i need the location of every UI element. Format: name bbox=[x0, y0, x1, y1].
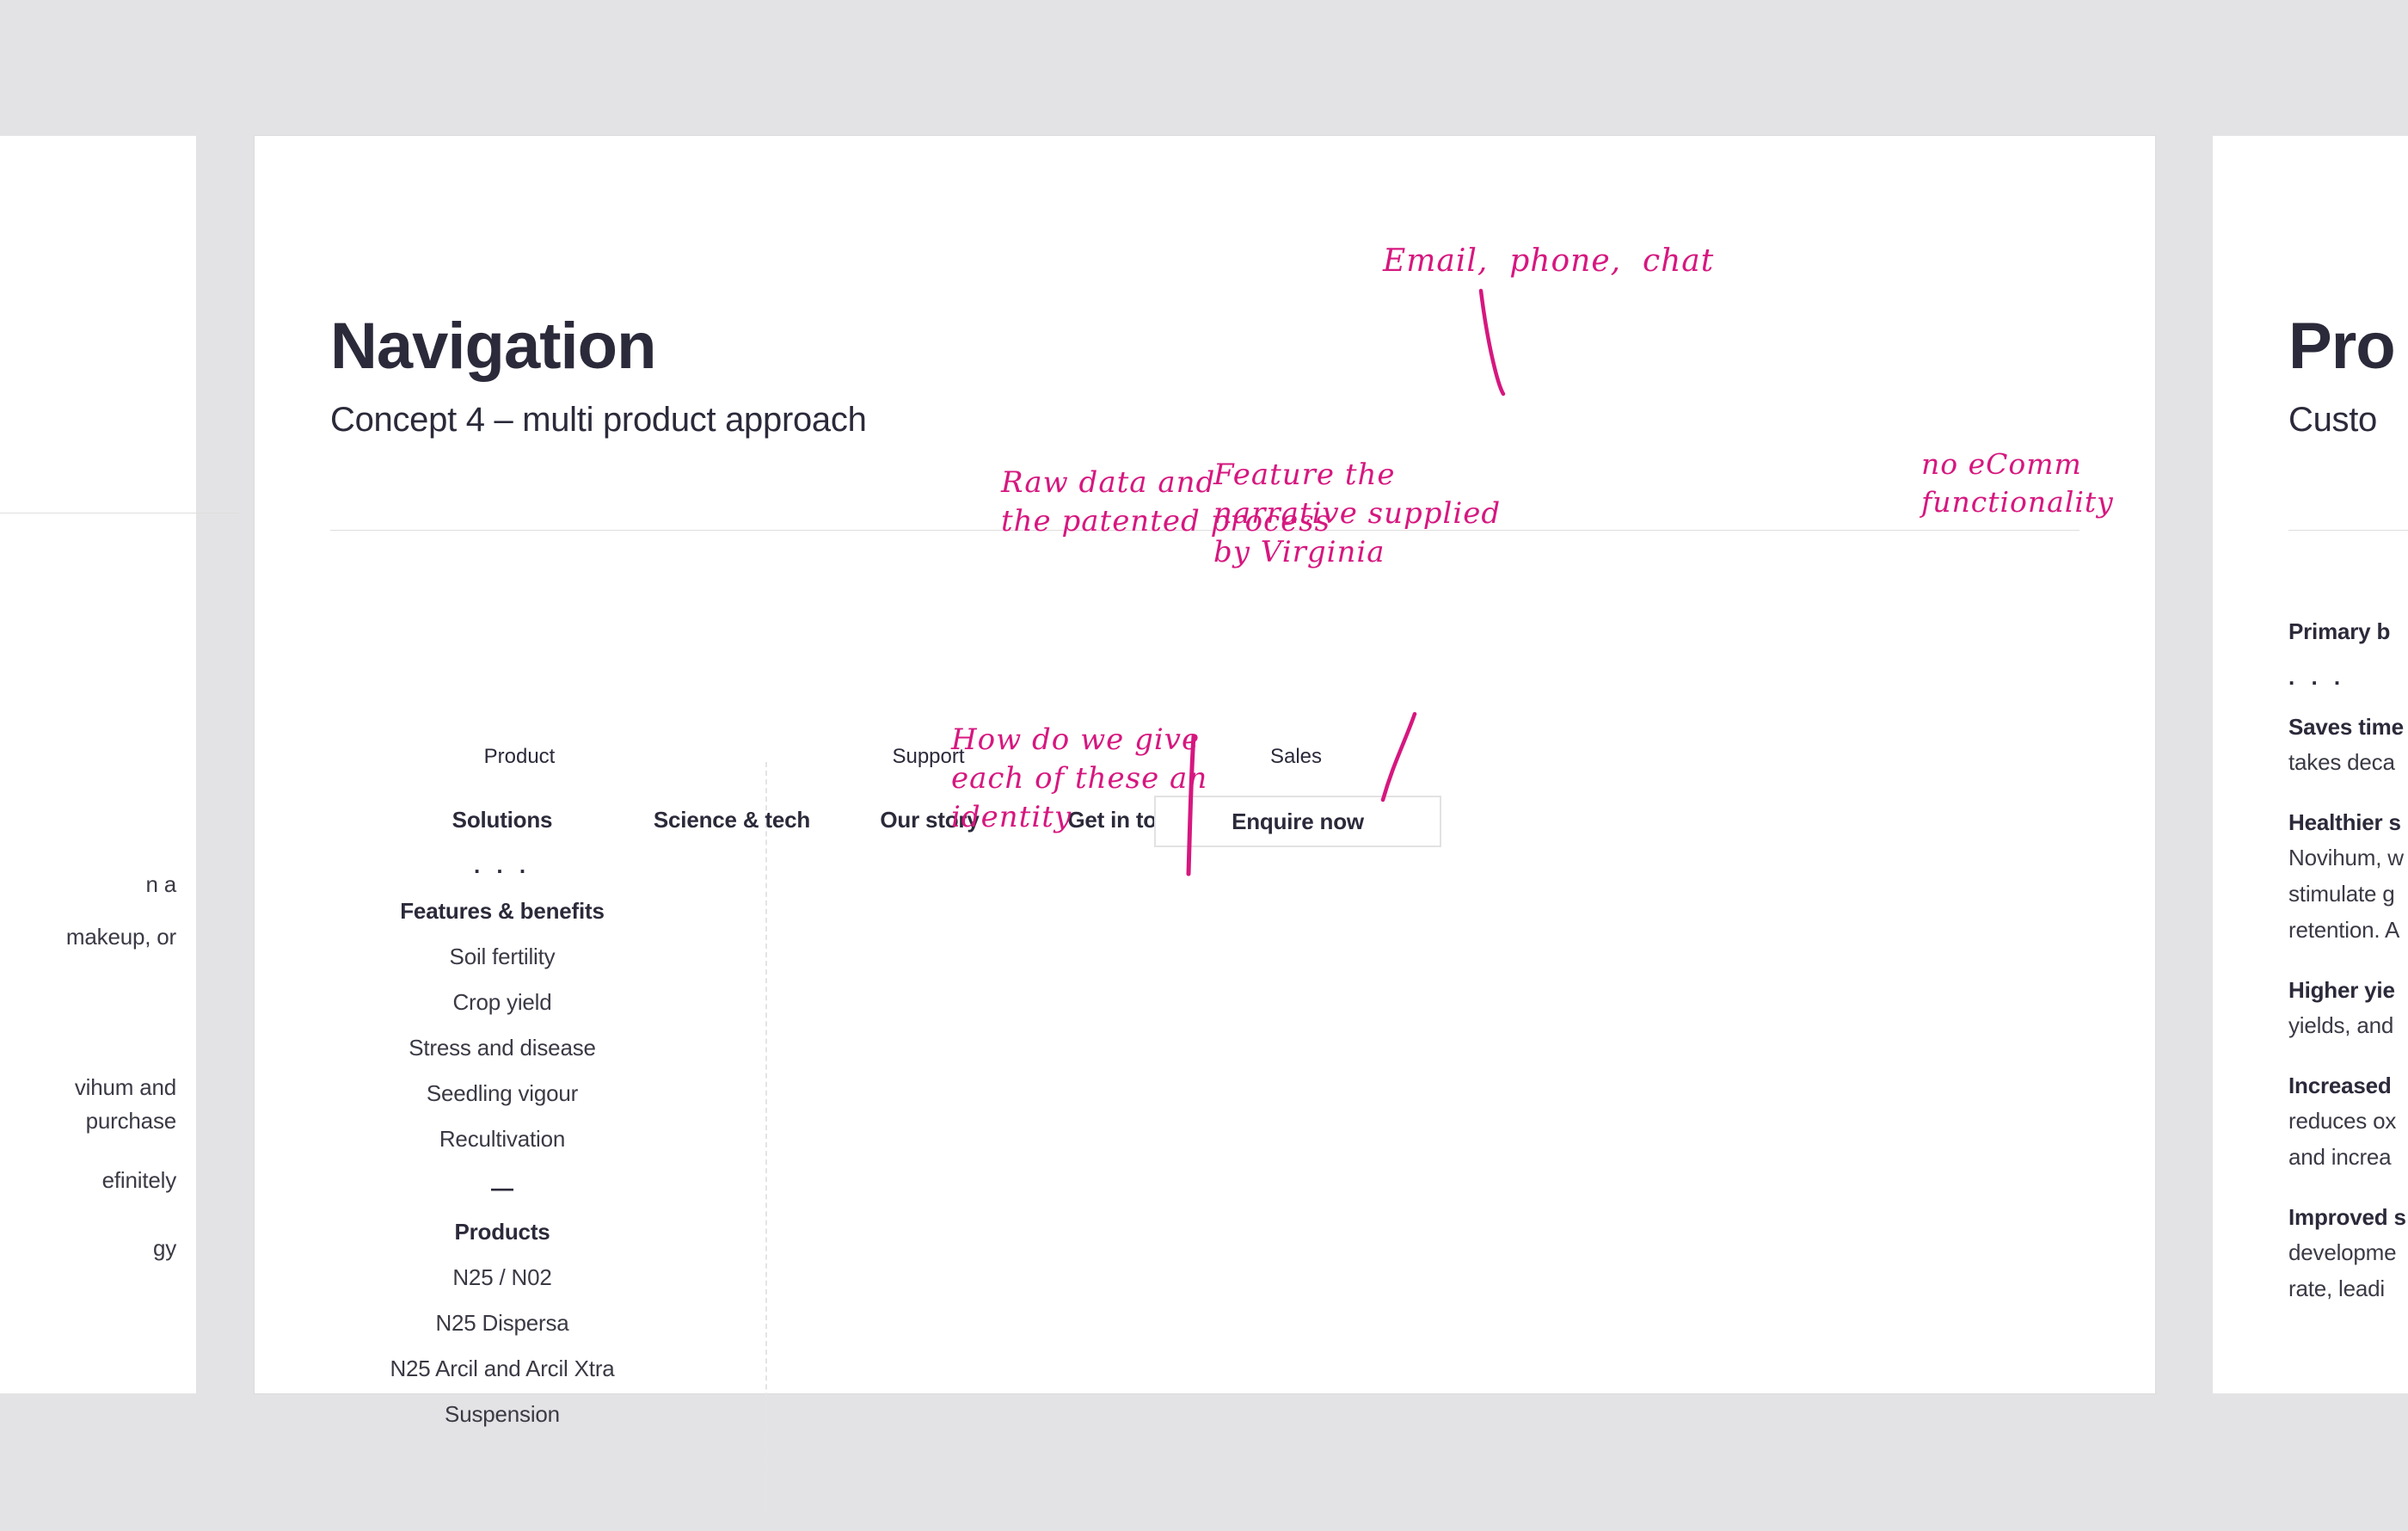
left-slide-line-6: gy bbox=[0, 1235, 176, 1262]
right-slide-divider bbox=[2288, 530, 2408, 531]
right-slide-title: Pro bbox=[2288, 314, 2395, 379]
nav-item-n25-arcil[interactable]: N25 Arcil and Arcil Xtra bbox=[274, 1356, 730, 1382]
left-slide-line-5: efinitely bbox=[0, 1167, 176, 1194]
right-block-5-heading: Improved s bbox=[2288, 1204, 2406, 1231]
presentation-canvas: n a makeup, or vihum and purchase efinit… bbox=[0, 0, 2408, 1531]
right-block-2-line-3: retention. A bbox=[2288, 917, 2399, 944]
section-label-product: Product bbox=[330, 741, 709, 772]
annotation-identity: How do we give each of these an identity bbox=[951, 721, 1207, 837]
right-block-2-line-1: Novihum, w bbox=[2288, 845, 2404, 871]
right-block-1-line-1: takes deca bbox=[2288, 749, 2395, 776]
right-slide-subtitle: Custo bbox=[2288, 403, 2377, 437]
left-slide-line-1: n a bbox=[0, 871, 176, 898]
annotation-feature-narrative: Feature the narrative supplied by Virgin… bbox=[1213, 456, 1501, 572]
left-slide-rule bbox=[0, 513, 239, 513]
right-block-5-line-1: developme bbox=[2288, 1239, 2396, 1266]
nav-item-crop-yield[interactable]: Crop yield bbox=[274, 989, 730, 1016]
right-block-3-line-1: yields, and bbox=[2288, 1012, 2393, 1039]
slide-current[interactable]: Navigation Concept 4 – multi product app… bbox=[255, 136, 2155, 1393]
nav-item-stress-and-disease[interactable]: Stress and disease bbox=[274, 1035, 730, 1061]
right-block-5-line-2: rate, leadi bbox=[2288, 1276, 2385, 1302]
right-block-1-heading: Saves time bbox=[2288, 714, 2404, 741]
section-bracket-product: Product bbox=[330, 741, 709, 772]
right-block-2-line-2: stimulate g bbox=[2288, 881, 2395, 907]
annotation-arrow-email-phone-chat bbox=[1481, 291, 1503, 394]
right-block-2-heading: Healthier s bbox=[2288, 809, 2401, 836]
nav-heading-products[interactable]: Products bbox=[274, 1219, 730, 1245]
right-slide-ellipsis: . . . bbox=[2288, 664, 2345, 691]
page-title: Navigation bbox=[330, 314, 656, 379]
nav-separator: — bbox=[274, 1175, 730, 1202]
enquire-now-label: Enquire now bbox=[1232, 809, 1364, 835]
annotation-email-phone-chat: Email, phone, chat bbox=[1383, 241, 1714, 282]
right-block-4-heading: Increased bbox=[2288, 1073, 2392, 1099]
nav-item-soil-fertility[interactable]: Soil fertility bbox=[274, 944, 730, 970]
left-slide-line-2: makeup, or bbox=[0, 924, 176, 950]
nav-item-n25-dispersa[interactable]: N25 Dispersa bbox=[274, 1310, 730, 1337]
page-subtitle: Concept 4 – multi product approach bbox=[330, 403, 867, 437]
right-block-4-line-1: reduces ox bbox=[2288, 1108, 2396, 1134]
nav-solutions-ellipsis: . . . bbox=[274, 852, 730, 879]
nav-item-recultivation[interactable]: Recultivation bbox=[274, 1126, 730, 1153]
nav-column-solutions: Solutions . . . Features & benefits Soil… bbox=[274, 807, 730, 1428]
nav-heading-features-benefits[interactable]: Features & benefits bbox=[274, 898, 730, 925]
nav-item-n25-n02[interactable]: N25 / N02 bbox=[274, 1264, 730, 1291]
annotation-no-ecomm: no eComm functionality bbox=[1921, 446, 2114, 520]
slide-next[interactable]: Pro Custo Primary b . . . Saves time tak… bbox=[2213, 136, 2408, 1393]
left-slide-line-3: vihum and bbox=[0, 1074, 176, 1101]
nav-item-seedling-vigour[interactable]: Seedling vigour bbox=[274, 1080, 730, 1107]
nav-item-suspension[interactable]: Suspension bbox=[274, 1401, 730, 1428]
right-block-3-heading: Higher yie bbox=[2288, 977, 2395, 1004]
column-group-divider bbox=[765, 762, 767, 1510]
right-block-4-line-2: and increa bbox=[2288, 1144, 2391, 1171]
slide-previous[interactable]: n a makeup, or vihum and purchase efinit… bbox=[0, 136, 196, 1393]
right-slide-primary-heading: Primary b bbox=[2288, 618, 2390, 645]
left-slide-line-4: purchase bbox=[0, 1108, 176, 1134]
